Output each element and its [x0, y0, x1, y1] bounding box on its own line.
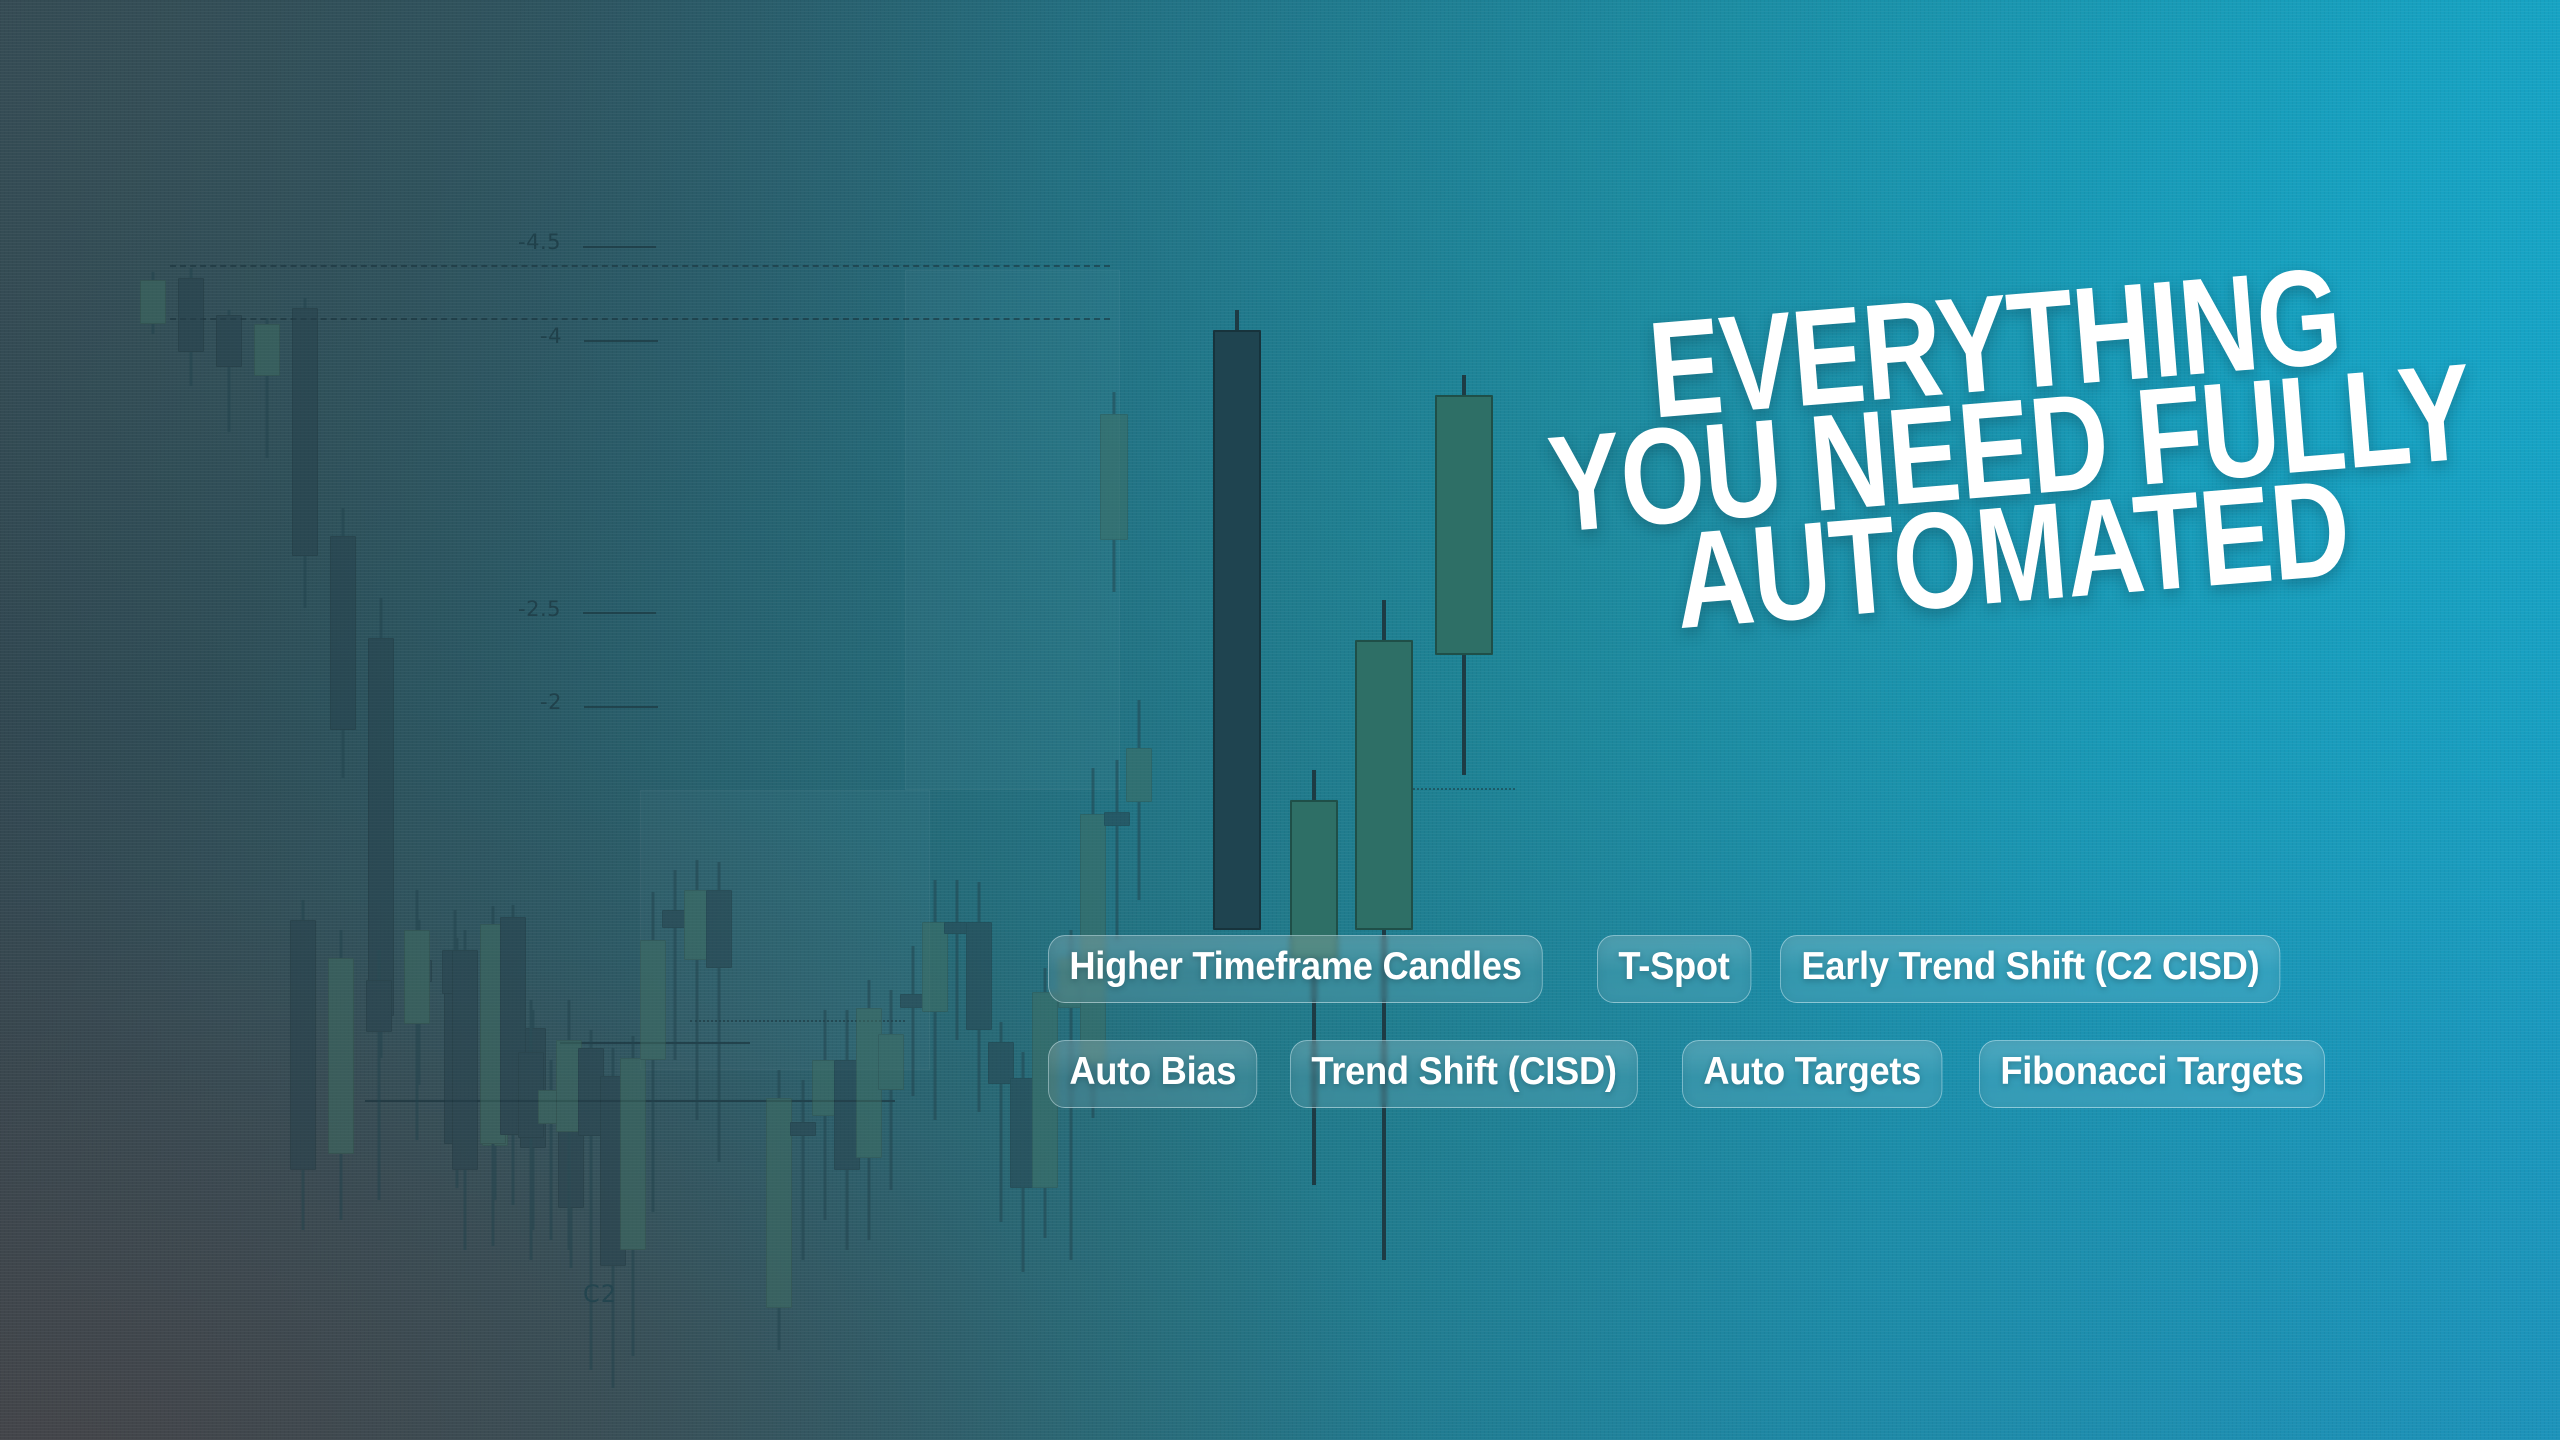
- headline: EVERYTHING YOU NEED FULLY AUTOMATED: [1497, 251, 2509, 648]
- feature-pill-t-spot[interactable]: T-Spot: [1597, 935, 1751, 1003]
- htf-candle-3: [1355, 600, 1413, 1260]
- htf-candle-1: [1213, 310, 1261, 930]
- price-chart: -4.5 -4 -2.5 -2: [0, 0, 2560, 1440]
- feature-pill-early-trend-shift[interactable]: Early Trend Shift (C2 CISD): [1780, 935, 2281, 1003]
- higher-timeframe-candles: [0, 0, 2560, 1440]
- feature-pill-trend-shift-cisd[interactable]: Trend Shift (CISD): [1290, 1040, 1638, 1108]
- feature-pill-row-1: Higher Timeframe Candles T-Spot Early Tr…: [1048, 935, 2318, 1003]
- feature-pill-fibonacci-targets[interactable]: Fibonacci Targets: [1979, 1040, 2325, 1108]
- feature-pill-auto-bias[interactable]: Auto Bias: [1048, 1040, 1258, 1108]
- feature-pill-higher-timeframe-candles[interactable]: Higher Timeframe Candles: [1048, 935, 1543, 1003]
- htf-candle-4: [1435, 375, 1493, 775]
- feature-pill-row-2: Auto Bias Trend Shift (CISD) Auto Target…: [1048, 1040, 2350, 1108]
- feature-pill-auto-targets[interactable]: Auto Targets: [1682, 1040, 1942, 1108]
